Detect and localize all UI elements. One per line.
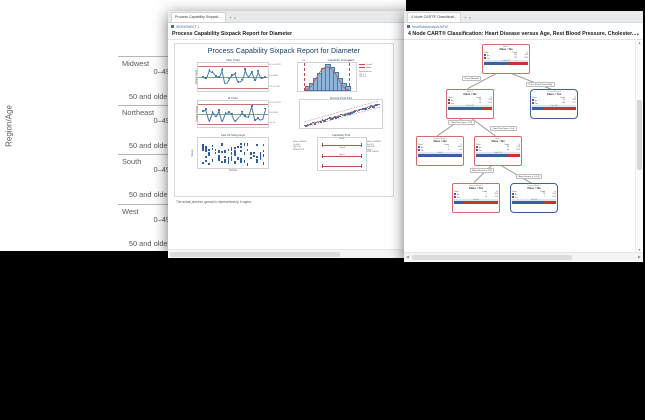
data-point bbox=[263, 150, 265, 152]
cart-node-bar bbox=[512, 201, 556, 204]
cart-bar-no bbox=[418, 154, 462, 157]
data-point bbox=[224, 150, 226, 152]
sixpack-footnote: The actual process spread is represented… bbox=[176, 200, 252, 204]
capplot-col-overall: Overall bbox=[318, 147, 366, 150]
cart-node-table: ClassCount% No4128.3 Yes10471.7 bbox=[532, 97, 576, 105]
sixpack-title: Process Capability Sixpack Report for Di… bbox=[168, 30, 296, 39]
cart-tree-node[interactable]: Node 1Class = NoClassCount% No15054.5 Ye… bbox=[482, 44, 530, 74]
cart-edge-label: Chest Pain Type = (1,4) bbox=[490, 126, 517, 131]
close-tab-icon[interactable]: × bbox=[468, 13, 470, 22]
scroll-right-icon[interactable]: ▶ bbox=[637, 255, 642, 260]
cart-tree-node[interactable]: Terminal Node 1Class = NoClassCount% No9… bbox=[416, 136, 464, 166]
data-point bbox=[263, 162, 265, 164]
cart-node-bar bbox=[532, 107, 576, 110]
cart-bar-yes bbox=[481, 107, 492, 110]
sixpack-tab-bar[interactable]: Process Capability Sixpack ... + × bbox=[168, 11, 412, 23]
class-swatch bbox=[418, 146, 420, 148]
data-point bbox=[263, 144, 265, 146]
data-point bbox=[253, 155, 255, 157]
data-point bbox=[205, 160, 207, 162]
cart-title: 4 Node CART® Classification: Heart Disea… bbox=[404, 30, 636, 39]
class-swatch bbox=[448, 99, 450, 101]
cart-bar-no bbox=[512, 201, 544, 204]
heatmap-age-label: 50 and older bbox=[129, 92, 170, 101]
cart-edge-label: Thal = (Fixed, Reversible) bbox=[526, 82, 555, 87]
class-swatch bbox=[512, 193, 514, 195]
sixpack-report-card: Process Capability Sixpack Report for Di… bbox=[174, 43, 394, 197]
cart-bar-no bbox=[484, 62, 508, 65]
subgroups-y-axis-label: Values bbox=[191, 149, 194, 156]
data-point bbox=[260, 158, 262, 160]
cart-bar-no bbox=[448, 107, 481, 110]
cart-node-bar bbox=[454, 201, 498, 204]
data-point bbox=[205, 156, 207, 158]
heatmap-region-label: Midwest bbox=[122, 59, 149, 68]
cart-breadcrumb: HeartTableAnalysis.MTW bbox=[404, 23, 643, 30]
cart-bar-no bbox=[532, 107, 544, 110]
data-point bbox=[260, 152, 262, 154]
cart-scroll-thumb[interactable] bbox=[637, 100, 642, 170]
data-point bbox=[208, 149, 210, 151]
data-point bbox=[240, 160, 242, 162]
cart-tree-node[interactable]: Terminal Node 4Class = YesClassCount% No… bbox=[530, 89, 578, 119]
cart-tree-node[interactable]: Terminal Node 2Class = YesClassCount% No… bbox=[452, 183, 500, 213]
r-chart-plot: Sample Range UCL=0.0007 R=0.0004 LCL=0 bbox=[197, 100, 269, 128]
cart-node-bar bbox=[484, 62, 528, 65]
sixpack-report-window[interactable]: Process Capability Sixpack ... + × WORKS… bbox=[168, 11, 412, 258]
cart-edge-label: Major Vessels = (2,4) bbox=[470, 168, 494, 173]
data-point bbox=[244, 143, 246, 145]
data-point bbox=[234, 161, 236, 163]
data-point bbox=[256, 159, 258, 161]
sixpack-breadcrumb-label: WORKSHEET 1 bbox=[176, 25, 199, 29]
tab-cart[interactable]: 4 Node CART® Classificati... bbox=[407, 12, 461, 22]
data-point bbox=[202, 162, 204, 164]
probplot-fit-line bbox=[300, 100, 382, 128]
capplot-stat-value: 5540.05 bbox=[372, 151, 379, 153]
heatmap-region-label: West bbox=[122, 207, 139, 216]
data-point bbox=[208, 152, 210, 154]
new-tab-icon[interactable]: + bbox=[229, 13, 231, 22]
cart-hscroll-thumb[interactable] bbox=[412, 255, 572, 260]
cart-bar-yes bbox=[508, 154, 520, 157]
cart-body: Node 1Class = NoClassCount% No15054.5 Ye… bbox=[404, 40, 643, 262]
cart-title-row: 4 Node CART® Classification: Heart Disea… bbox=[404, 30, 643, 40]
data-point bbox=[215, 152, 217, 154]
heatmap-row-separator bbox=[118, 204, 174, 205]
worksheet-icon bbox=[171, 25, 174, 28]
data-point bbox=[231, 152, 233, 154]
capplot-plot: Within Overall Specs bbox=[317, 137, 367, 171]
capplot-stat-row: PPM 4071.41 bbox=[293, 149, 307, 152]
data-point bbox=[231, 158, 233, 160]
xbar-ucl-label: UCL=0.5997 bbox=[269, 64, 281, 66]
r-lcl-label: LCL=0 bbox=[269, 122, 275, 124]
histogram-plot: LSL USL bbox=[297, 62, 357, 92]
data-point bbox=[224, 159, 226, 161]
cart-node-bar bbox=[476, 154, 520, 157]
cart-bar-no bbox=[476, 154, 508, 157]
data-point bbox=[240, 146, 242, 148]
probplot-plot bbox=[299, 99, 383, 129]
heatmap-row-separator bbox=[118, 154, 174, 155]
cart-edge-label: Thal = (Normal) bbox=[462, 76, 481, 81]
xbar-lcl-label: LCL=0.5997 bbox=[269, 86, 280, 88]
cart-tree-node[interactable]: Terminal Node 3Class = NoClassCount% No1… bbox=[510, 183, 558, 213]
subgroups-x-axis-label: Sample bbox=[198, 169, 268, 172]
data-point bbox=[240, 150, 242, 152]
data-point bbox=[237, 146, 239, 148]
cart-breadcrumb-label: HeartTableAnalysis.MTW bbox=[412, 25, 448, 29]
capplot-stat-name: PPM bbox=[367, 151, 371, 153]
capplot-stat-value: 0.000454 bbox=[373, 141, 381, 143]
data-point bbox=[228, 149, 230, 151]
data-point bbox=[253, 152, 255, 154]
sixpack-horizontal-scrollbar[interactable] bbox=[168, 249, 412, 258]
cart-bar-yes bbox=[464, 201, 498, 204]
heatmap-age-label: 50 and older bbox=[129, 141, 170, 150]
cart-node-table: ClassCount% No722.6 Yes2477.4 bbox=[454, 191, 498, 199]
class-swatch bbox=[532, 102, 534, 104]
capplot-stat-value: 0.000423 bbox=[299, 141, 307, 143]
capplot-col-within: Within bbox=[318, 138, 366, 141]
scroll-up-icon[interactable]: ▲ bbox=[637, 41, 642, 46]
cart-edge-label: Major Vessels = (1,2,3) bbox=[516, 174, 542, 179]
worksheet-icon bbox=[407, 25, 410, 28]
heatmap-region-label: South bbox=[122, 157, 141, 166]
sixpack-hscroll-thumb[interactable] bbox=[170, 252, 340, 257]
class-swatch bbox=[484, 57, 486, 59]
cart-node-table: ClassCount% No1892.3 Yes728.0 bbox=[512, 191, 556, 199]
tab-sixpack[interactable]: Process Capability Sixpack ... bbox=[171, 12, 226, 22]
cart-tab-bar[interactable]: 4 Node CART® Classificati... + × bbox=[404, 11, 643, 23]
class-swatch bbox=[532, 99, 534, 101]
data-point bbox=[212, 145, 214, 147]
cart-bar-no bbox=[454, 201, 464, 204]
data-point bbox=[205, 149, 207, 151]
series-line bbox=[258, 118, 262, 121]
series-line bbox=[226, 78, 230, 84]
heatmap-region-label: Northeast bbox=[122, 108, 154, 117]
cart-vertical-scrollbar[interactable]: ▲ ▼ bbox=[635, 40, 643, 254]
class-swatch bbox=[454, 196, 456, 198]
cart-tree-node[interactable]: Node 2Class = NoClassCount% No9373.8 Yes… bbox=[446, 89, 494, 119]
class-swatch bbox=[484, 54, 486, 56]
cart-tree-node[interactable]: Node 3Class = NoClassCount% No8471.8 Yes… bbox=[474, 136, 522, 166]
sixpack-title-row: Process Capability Sixpack Report for Di… bbox=[168, 30, 412, 40]
cart-node-table: ClassCount% No9373.8 Yes3326.2 bbox=[448, 97, 492, 105]
sixpack-report-heading: Process Capability Sixpack Report for Di… bbox=[175, 44, 393, 55]
histogram-legend-usl: USL 0.6 bbox=[359, 76, 372, 79]
data-point bbox=[234, 147, 236, 149]
class-swatch bbox=[448, 102, 450, 104]
cart-classification-window[interactable]: 4 Node CART® Classificati... + × HeartTa… bbox=[404, 11, 643, 261]
cart-horizontal-scrollbar[interactable]: ◀ ▶ bbox=[404, 252, 643, 261]
data-point bbox=[244, 160, 246, 162]
data-point bbox=[228, 159, 230, 161]
xbar-center-label: X=0.6000 bbox=[269, 75, 278, 77]
data-point bbox=[218, 158, 220, 160]
class-swatch bbox=[476, 146, 478, 148]
data-point bbox=[244, 152, 246, 154]
data-point bbox=[247, 144, 249, 146]
r-center-label: R=0.0004 bbox=[269, 112, 278, 114]
class-swatch bbox=[512, 196, 514, 198]
cart-node-table: ClassCount% No15054.5 Yes12545.5 bbox=[484, 52, 528, 60]
cart-edge-label: Chest Pain Type = (2,3) bbox=[448, 120, 475, 125]
data-point bbox=[234, 153, 236, 155]
desktop-screenshot: Region/Age Midwest0–4950 and olderNorthe… bbox=[0, 0, 645, 420]
data-point bbox=[221, 161, 223, 163]
data-point bbox=[208, 163, 210, 165]
heatmap-age-label: 50 and older bbox=[129, 190, 170, 199]
cart-node-bar bbox=[448, 107, 492, 110]
data-point bbox=[256, 144, 258, 146]
data-point bbox=[212, 159, 214, 161]
cart-node-table: ClassCount% No9100.0 Yes00.0 bbox=[418, 144, 462, 152]
subgroups-plot: Values Sample bbox=[197, 137, 269, 169]
capplot-stat-name: PPM bbox=[293, 149, 297, 151]
histogram-usl-label: USL bbox=[348, 60, 352, 62]
data-point bbox=[240, 143, 242, 145]
data-point bbox=[231, 147, 233, 149]
histogram-lsl-label: LSL bbox=[302, 60, 306, 62]
sixpack-breadcrumb: WORKSHEET 1 bbox=[168, 23, 412, 30]
data-point bbox=[218, 150, 220, 152]
cart-node-table: ClassCount% No8471.8 Yes3328.2 bbox=[476, 144, 520, 152]
xbar-chart-plot: Sample Mean UCL=0.5997 X=0.6000 LCL=0.59… bbox=[197, 62, 269, 92]
new-tab-icon[interactable]: + bbox=[464, 13, 466, 22]
scroll-left-icon[interactable]: ◀ bbox=[405, 255, 410, 260]
class-swatch bbox=[476, 149, 478, 151]
heatmap-age-label: 50 and older bbox=[129, 239, 170, 248]
cart-bar-yes bbox=[544, 107, 576, 110]
heatmap-row-separator bbox=[118, 56, 174, 57]
data-point bbox=[256, 156, 258, 158]
data-point bbox=[263, 154, 265, 156]
data-point bbox=[212, 148, 214, 150]
cart-node-bar bbox=[418, 154, 462, 157]
chevron-down-icon[interactable]: ▾ bbox=[636, 32, 643, 38]
histogram-legend-within: Within bbox=[366, 67, 372, 69]
capplot-stat-row: PPM 5540.05 bbox=[367, 151, 381, 154]
heatmap-y-axis-title: Region/Age bbox=[5, 105, 14, 147]
data-point bbox=[247, 149, 249, 151]
series-line bbox=[262, 77, 266, 79]
data-point bbox=[221, 144, 223, 146]
data-point bbox=[237, 158, 239, 160]
cart-bar-yes bbox=[508, 62, 528, 65]
capplot-stat-value: 4071.41 bbox=[298, 149, 305, 151]
data-point bbox=[247, 163, 249, 165]
heatmap-row-separator bbox=[118, 105, 174, 106]
r-ucl-label: UCL=0.0007 bbox=[269, 102, 281, 104]
data-point bbox=[250, 152, 252, 154]
data-point bbox=[250, 157, 252, 159]
normal-curve bbox=[298, 63, 356, 91]
series-line bbox=[235, 117, 239, 121]
data-point bbox=[228, 161, 230, 163]
cart-bar-yes bbox=[544, 201, 556, 204]
class-swatch bbox=[454, 193, 456, 195]
data-point bbox=[202, 147, 204, 149]
class-swatch bbox=[418, 149, 420, 151]
sixpack-body: Process Capability Sixpack Report for Di… bbox=[168, 40, 412, 258]
data-point bbox=[221, 151, 223, 153]
close-tab-icon[interactable]: × bbox=[234, 13, 236, 22]
